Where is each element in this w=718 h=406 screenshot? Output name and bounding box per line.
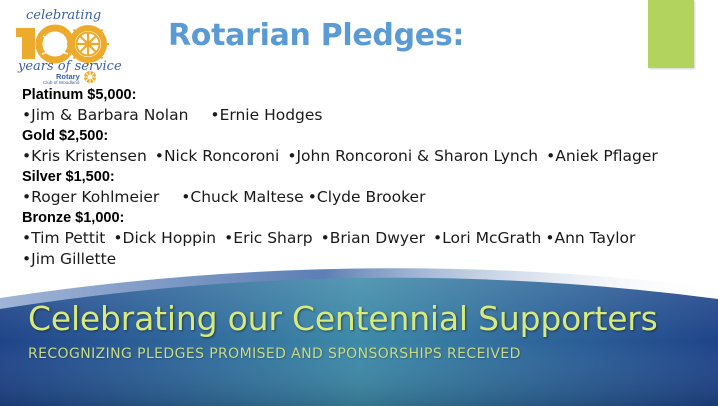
list-item: •Ernie Hodges — [210, 105, 322, 126]
list-item: •Ann Taylor — [545, 228, 635, 249]
list-item: •Nick Roncoroni — [155, 146, 280, 167]
donor-name: Tim Pettit — [31, 229, 105, 247]
tier-name-row: •Roger Kohlmeier•Chuck Maltese•Clyde Bro… — [22, 187, 704, 208]
logo-org-club: Club of Woodland — [43, 80, 80, 84]
tier-silver: Silver $1,500: •Roger Kohlmeier•Chuck Ma… — [22, 168, 704, 208]
tier-heading: Silver $1,500: — [22, 168, 704, 187]
list-item: •Lori McGrath — [433, 228, 541, 249]
donor-name: Eric Sharp — [233, 229, 312, 247]
donor-name: Brian Dwyer — [330, 229, 425, 247]
donor-name: Clyde Brooker — [317, 188, 426, 206]
tier-heading: Bronze $1,000: — [22, 209, 704, 228]
donor-name: Dick Hoppin — [123, 229, 217, 247]
list-item: •Aniek Pflager — [546, 146, 658, 167]
list-item: •Roger Kohlmeier — [22, 187, 159, 208]
list-item: •Kris Kristensen — [22, 146, 147, 167]
logo-celebrating-text: celebrating — [26, 8, 101, 23]
donor-name: Nick Roncoroni — [164, 147, 279, 165]
donor-name: Roger Kohlmeier — [31, 188, 159, 206]
tier-heading: Gold $2,500: — [22, 127, 704, 146]
tier-platinum: Platinum $5,000: •Jim & Barbara Nolan•Er… — [22, 86, 704, 126]
tier-gold: Gold $2,500: •Kris Kristensen•Nick Ronco… — [22, 127, 704, 167]
donor-name: John Roncoroni & Sharon Lynch — [296, 147, 538, 165]
donor-name: Ann Taylor — [554, 229, 635, 247]
donor-name: Ernie Hodges — [220, 106, 323, 124]
banner-title: Celebrating our Centennial Supporters — [28, 300, 698, 338]
tier-name-row: •Jim & Barbara Nolan•Ernie Hodges — [22, 105, 704, 126]
green-accent-block — [648, 0, 694, 68]
list-item: •Dick Hoppin — [113, 228, 216, 249]
tier-name-row: •Kris Kristensen•Nick Roncoroni•John Ron… — [22, 146, 704, 167]
tier-name-row: •Tim Pettit•Dick Hoppin•Eric Sharp•Brian… — [22, 228, 704, 249]
list-item: •Chuck Maltese — [181, 187, 303, 208]
pledge-tier-list: Platinum $5,000: •Jim & Barbara Nolan•Er… — [22, 86, 704, 271]
donor-name: Chuck Maltese — [190, 188, 303, 206]
donor-name: Jim & Barbara Nolan — [31, 106, 188, 124]
list-item: •Eric Sharp — [224, 228, 312, 249]
slide-canvas: celebrating — [0, 0, 718, 406]
list-item: •John Roncoroni & Sharon Lynch — [287, 146, 538, 167]
list-item: •Clyde Brooker — [308, 187, 426, 208]
rotary-centennial-logo: celebrating — [12, 4, 130, 84]
bottom-banner: Celebrating our Centennial Supporters RE… — [0, 254, 718, 406]
donor-name: Aniek Pflager — [555, 147, 658, 165]
list-item: •Brian Dwyer — [321, 228, 425, 249]
banner-subtitle: RECOGNIZING PLEDGES PROMISED AND SPONSOR… — [28, 345, 698, 363]
page-title: Rotarian Pledges: — [168, 18, 464, 53]
donor-name: Kris Kristensen — [31, 147, 147, 165]
list-item: •Tim Pettit — [22, 228, 105, 249]
donor-name: Lori McGrath — [442, 229, 541, 247]
tier-heading: Platinum $5,000: — [22, 86, 704, 105]
list-item: •Jim & Barbara Nolan — [22, 105, 188, 126]
banner-text-block: Celebrating our Centennial Supporters RE… — [28, 300, 698, 363]
